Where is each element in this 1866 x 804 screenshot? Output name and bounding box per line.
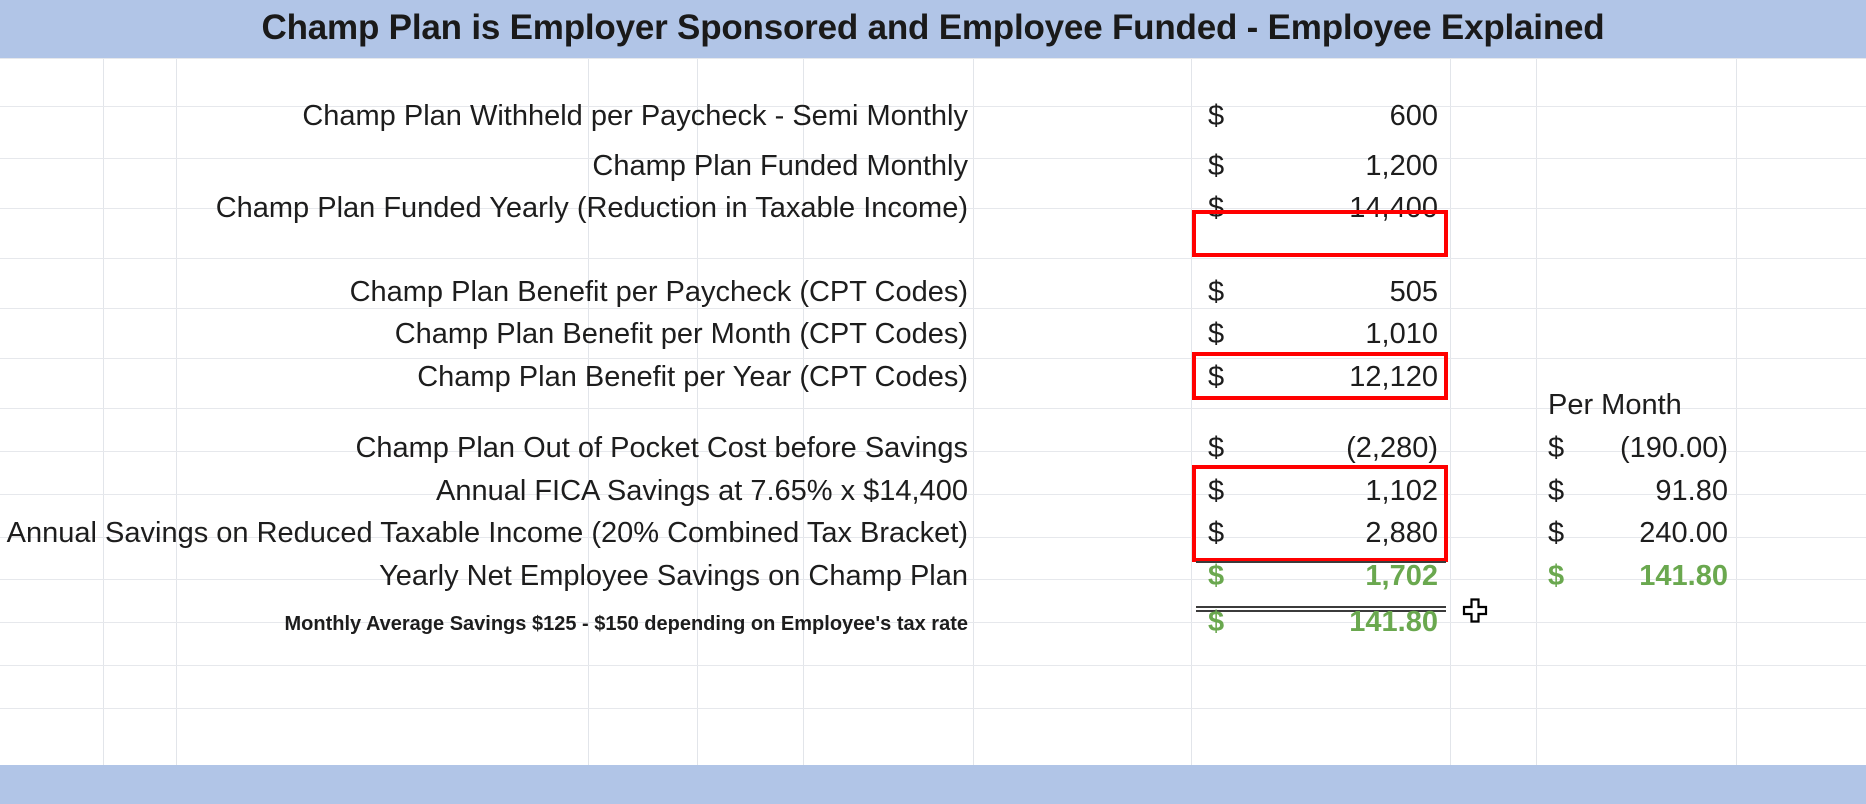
title-banner: Champ Plan is Employer Sponsored and Emp… — [0, 0, 1866, 58]
row-label: Champ Plan Benefit per Paycheck (CPT Cod… — [0, 278, 968, 307]
row-label: Yearly Net Employee Savings on Champ Pla… — [0, 562, 968, 591]
row-label: Champ Plan Out of Pocket Cost before Sav… — [0, 434, 968, 463]
spreadsheet-canvas: Champ Plan is Employer Sponsored and Emp… — [0, 0, 1866, 804]
page-title: Champ Plan is Employer Sponsored and Emp… — [0, 0, 1866, 58]
per-month-amount: 141.80 — [1560, 562, 1728, 591]
grid-column-line — [1536, 58, 1537, 765]
row-amount: 12,120 — [1230, 363, 1438, 392]
row-label: Champ Plan Benefit per Month (CPT Codes) — [0, 320, 968, 349]
grid-row-line — [0, 308, 1866, 309]
row-label: Champ Plan Funded Yearly (Reduction in T… — [0, 194, 968, 223]
row-amount: 141.80 — [1230, 608, 1438, 637]
sheet-grid: Champ Plan Withheld per Paycheck - Semi … — [0, 58, 1866, 765]
row-amount: 1,010 — [1230, 320, 1438, 349]
row-amount: 1,200 — [1230, 152, 1438, 181]
per-month-amount: 240.00 — [1560, 519, 1728, 548]
row-amount: (2,280) — [1230, 434, 1438, 463]
row-amount: 1,702 — [1230, 562, 1438, 591]
grid-row-line — [0, 258, 1866, 259]
grid-row-line — [0, 58, 1866, 59]
row-amount: 600 — [1230, 102, 1438, 131]
grid-row-line — [0, 358, 1866, 359]
row-label: Champ Plan Funded Monthly — [0, 152, 968, 181]
excel-cell-select-cursor-icon — [1462, 598, 1488, 624]
row-label: Annual FICA Savings at 7.65% x $14,400 — [0, 477, 968, 506]
row-label: Champ Plan Withheld per Paycheck - Semi … — [0, 102, 968, 131]
row-amount: 505 — [1230, 278, 1438, 307]
row-amount: 2,880 — [1230, 519, 1438, 548]
grid-column-line — [1191, 58, 1192, 765]
per-month-amount: (190.00) — [1560, 434, 1728, 463]
grid-row-line — [0, 708, 1866, 709]
footer-banner — [0, 765, 1866, 804]
grid-column-line — [973, 58, 974, 765]
row-label-note: Monthly Average Savings $125 - $150 depe… — [0, 614, 968, 634]
per-month-amount: 91.80 — [1560, 477, 1728, 506]
row-amount: 14,400 — [1230, 194, 1438, 223]
per-month-column-header: Per Month — [1548, 391, 1748, 420]
row-amount: 1,102 — [1230, 477, 1438, 506]
row-label: Champ Plan Benefit per Year (CPT Codes) — [0, 363, 968, 392]
grid-column-line — [1450, 58, 1451, 765]
row-label: Annual Savings on Reduced Taxable Income… — [0, 519, 968, 548]
grid-row-line — [0, 665, 1866, 666]
